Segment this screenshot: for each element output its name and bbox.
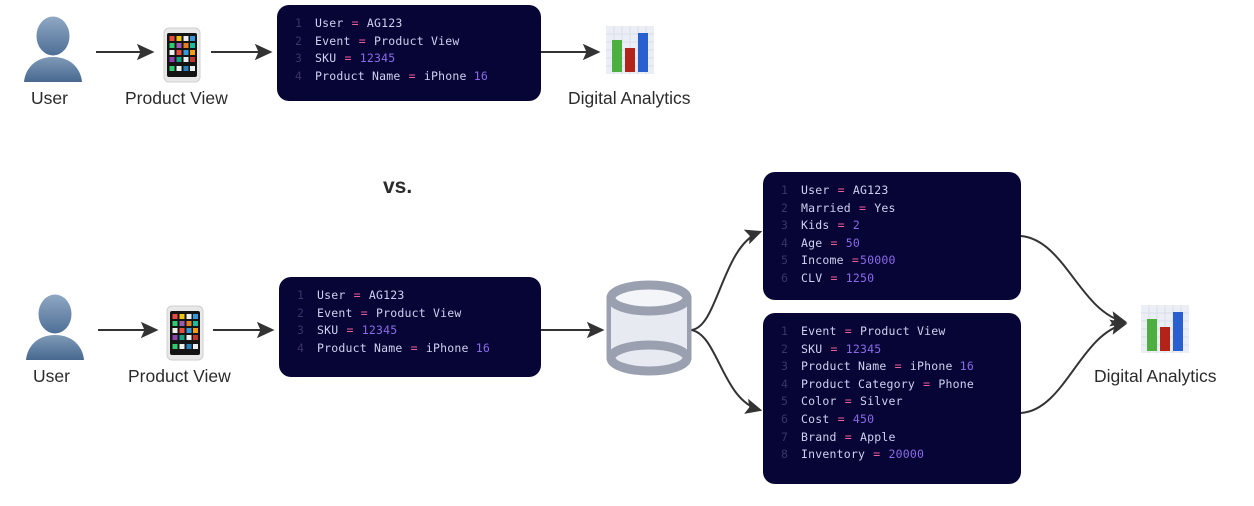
code-value: iPhone [417,69,474,83]
code-line-number: 1 [287,15,315,33]
code-line-content: Cost = 450 [801,411,874,429]
code-line: 3Product Name = iPhone 16 [773,358,1007,376]
code-line-content: SKU = 12345 [317,322,397,340]
code-value: 50000 [860,253,896,267]
user-avatar-icon [22,12,84,84]
code-line: 1Event = Product View [773,323,1007,341]
code-value: iPhone [903,359,960,373]
code-line-content: Event = Product View [801,323,945,341]
code-line-content: Product Name = iPhone 16 [801,358,974,376]
code-value: 12345 [839,342,882,356]
arrow-database-to-product-code [691,330,760,410]
product-attributes-code-block: 1Event = Product View2SKU = 123453Produc… [763,313,1021,484]
code-line: 4Age = 50 [773,235,1007,253]
bar-chart-icon [1141,305,1189,353]
code-line-number: 5 [773,393,801,411]
code-key: Kids [801,218,837,232]
code-equals: = [844,394,853,408]
code-line-number: 6 [773,411,801,429]
code-line-number: 1 [773,182,801,200]
code-line-content: Inventory = 20000 [801,446,924,464]
user-avatar-icon [24,290,86,362]
code-key: User [315,16,351,30]
code-line: 2Event = Product View [287,33,527,51]
code-line-content: Product Name = iPhone 16 [315,68,488,86]
code-equals: = [830,236,839,250]
code-key: User [317,288,353,302]
code-key: Brand [801,430,844,444]
code-line: 5Color = Silver [773,393,1007,411]
code-line-number: 4 [289,340,317,358]
code-line: 1User = AG123 [773,182,1007,200]
code-value: 450 [846,412,875,426]
code-value: 2 [846,218,860,232]
code-equals: = [360,306,369,320]
code-line: 1User = AG123 [289,287,527,305]
comparison-label: vs. [383,175,412,199]
code-key: Age [801,236,830,250]
code-line-content: Product Name = iPhone 16 [317,340,490,358]
code-line-number: 2 [773,200,801,218]
code-equals: = [830,342,839,356]
code-line-number: 4 [773,235,801,253]
code-line-number: 6 [773,270,801,288]
code-value: Silver [853,394,903,408]
code-line-content: User = AG123 [801,182,889,200]
code-equals: = [351,16,360,30]
code-line-number: 2 [289,305,317,323]
code-value: 1250 [839,271,875,285]
code-line-content: Income =50000 [801,252,896,270]
code-key: Event [801,324,844,338]
code-key: SKU [317,323,346,337]
code-key: Inventory [801,447,872,461]
code-equals: = [830,271,839,285]
code-line-number: 3 [289,322,317,340]
code-line-number: 8 [773,446,801,464]
code-equals: = [872,447,881,461]
code-line-number: 2 [287,33,315,51]
row1-analytics-label: Digital Analytics [568,88,691,109]
code-line-content: CLV = 1250 [801,270,874,288]
smartphone-icon [163,27,201,83]
code-line: 7Brand = Apple [773,429,1007,447]
code-line: 4Product Name = iPhone 16 [289,340,527,358]
code-line-content: Color = Silver [801,393,903,411]
code-key: Color [801,394,844,408]
code-line-content: SKU = 12345 [801,341,881,359]
code-line-content: Event = Product View [317,305,461,323]
code-line-number: 4 [287,68,315,86]
code-key: CLV [801,271,830,285]
code-line: 2Event = Product View [289,305,527,323]
code-equals: = [837,218,846,232]
code-key: SKU [801,342,830,356]
code-line-number: 4 [773,376,801,394]
code-equals: = [894,359,903,373]
code-line: 8Inventory = 20000 [773,446,1007,464]
code-equals: = [837,412,846,426]
code-key: Product Category [801,377,922,391]
code-key: Cost [801,412,837,426]
code-key: SKU [315,51,344,65]
code-equals: = [858,201,867,215]
code-value-number: 16 [474,69,488,83]
code-equals: = [346,323,355,337]
code-equals: = [410,341,419,355]
code-key: Product Name [315,69,408,83]
code-value: Apple [853,430,896,444]
code-value: 12345 [353,51,396,65]
code-line-content: Product Category = Phone [801,376,974,394]
code-value: AG123 [846,183,889,197]
code-value-number: 16 [960,359,974,373]
code-line: 6CLV = 1250 [773,270,1007,288]
diagram-canvas: User [0,0,1254,506]
code-line: 4Product Category = Phone [773,376,1007,394]
code-key: Event [317,306,360,320]
code-value: 12345 [355,323,398,337]
code-key: Event [315,34,358,48]
row1-user-label: User [31,88,68,109]
code-value: iPhone [419,341,476,355]
code-value: Phone [931,377,974,391]
code-line: 3Kids = 2 [773,217,1007,235]
code-line-number: 5 [773,252,801,270]
code-line-content: Age = 50 [801,235,860,253]
code-line: 2Married = Yes [773,200,1007,218]
row2-event-code-block: 1User = AG1232Event = Product View3SKU =… [279,277,541,377]
code-line-content: Brand = Apple [801,429,896,447]
code-value: Product View [853,324,946,338]
code-line-content: Married = Yes [801,200,896,218]
code-value: AG123 [360,16,403,30]
row2-user-label: User [33,366,70,387]
code-line-content: SKU = 12345 [315,50,395,68]
row2-event-label: Product View [128,366,231,387]
code-equals: = [837,183,846,197]
code-value: Yes [867,201,896,215]
database-cylinder-icon [605,282,693,374]
code-equals: = [851,253,860,267]
code-line-content: User = AG123 [317,287,405,305]
row1-event-label: Product View [125,88,228,109]
code-equals: = [353,288,362,302]
code-line: 1User = AG123 [287,15,527,33]
bar-chart-icon [606,26,654,74]
code-line: 5Income =50000 [773,252,1007,270]
code-equals: = [844,430,853,444]
code-equals: = [844,324,853,338]
code-value: Product View [367,34,460,48]
smartphone-icon [166,305,204,361]
arrow-profile-code-to-analytics [1021,236,1125,322]
code-line-content: Event = Product View [315,33,459,51]
user-profile-code-block: 1User = AG1232Married = Yes3Kids = 24Age… [763,172,1021,300]
code-key: User [801,183,837,197]
code-line: 3SKU = 12345 [289,322,527,340]
code-value: 50 [839,236,860,250]
row2-analytics-label: Digital Analytics [1094,366,1217,387]
code-key: Product Name [317,341,410,355]
code-line-content: User = AG123 [315,15,403,33]
code-value: AG123 [362,288,405,302]
code-line-number: 1 [773,323,801,341]
code-line: 4Product Name = iPhone 16 [287,68,527,86]
code-key: Married [801,201,858,215]
code-equals: = [358,34,367,48]
code-equals: = [344,51,353,65]
code-line: 6Cost = 450 [773,411,1007,429]
code-line-number: 3 [287,50,315,68]
code-line-number: 7 [773,429,801,447]
code-value: 20000 [881,447,924,461]
code-line-number: 2 [773,341,801,359]
code-value-number: 16 [476,341,490,355]
row1-event-code-block: 1User = AG1232Event = Product View3SKU =… [277,5,541,101]
code-line-content: Kids = 2 [801,217,860,235]
code-line: 3SKU = 12345 [287,50,527,68]
arrow-database-to-profile-code [691,232,760,330]
code-equals: = [922,377,931,391]
code-key: Product Name [801,359,894,373]
code-line-number: 1 [289,287,317,305]
code-key: Income [801,253,851,267]
code-equals: = [408,69,417,83]
code-line: 2SKU = 12345 [773,341,1007,359]
code-value: Product View [369,306,462,320]
code-line-number: 3 [773,217,801,235]
code-line-number: 3 [773,358,801,376]
